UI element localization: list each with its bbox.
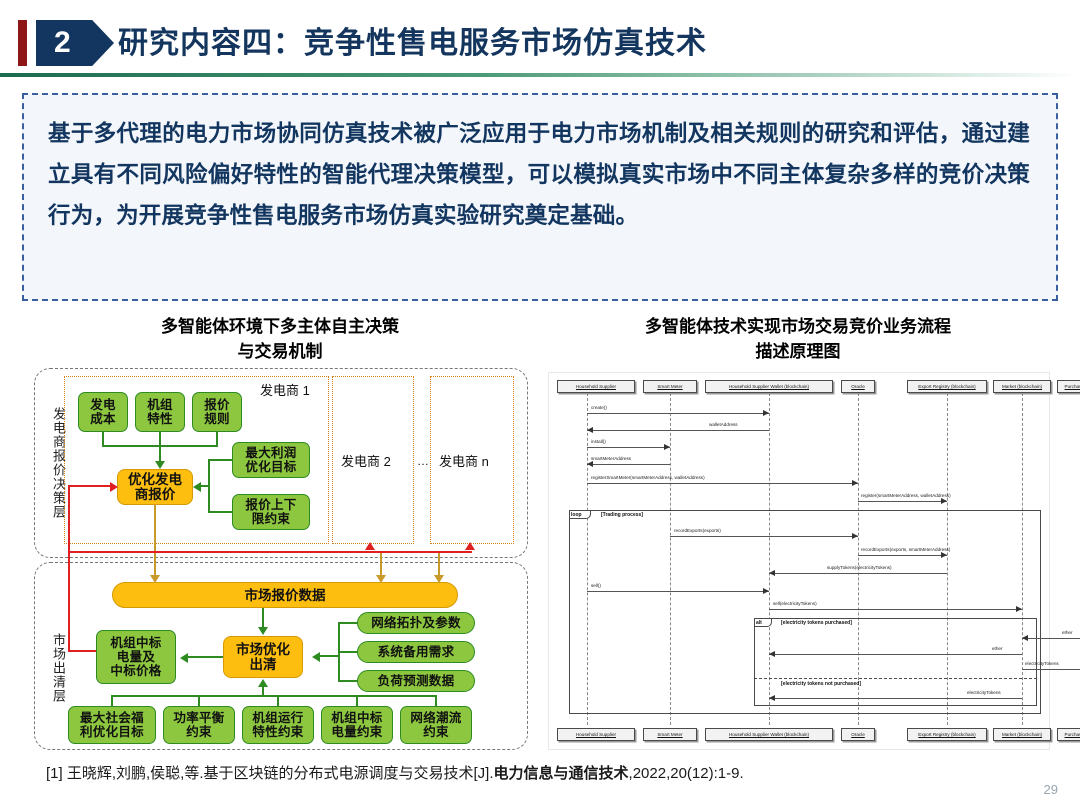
node-network-flow-constraint: 网络潮流 约束 — [400, 706, 472, 744]
header-divider — [0, 73, 1080, 77]
message-arrow-sell-tokens — [1016, 606, 1022, 612]
node-power-balance-constraint: 功率平衡 约束 — [163, 706, 235, 744]
message-label-ether-purchaser: ether — [1062, 630, 1072, 635]
node-unitop-l2: 特性约束 — [252, 725, 303, 739]
message-line-sell-tokens — [769, 609, 1022, 610]
message-arrow-ether-purchaser — [1022, 635, 1028, 641]
link-feedback-from-award — [68, 650, 96, 652]
node-unitop-l1: 机组运行 — [252, 711, 303, 725]
summary-callout-box: 基于多代理的电力市场协同仿真技术被广泛应用于电力市场机制及相关规则的研究和评估，… — [22, 93, 1058, 301]
node-generation-cost-l1: 发电 — [90, 398, 116, 412]
message-arrow-registersmartmeter — [852, 480, 858, 486]
link-c2-up — [198, 696, 200, 707]
link-rules-down — [216, 432, 218, 446]
message-line-recordexports — [670, 536, 858, 537]
link-clearing-to-award — [187, 656, 223, 658]
node-welfare-l2: 利优化目标 — [80, 725, 144, 739]
layer-label-market-clearing: 市场出清层 — [40, 598, 66, 738]
message-line-create — [587, 413, 769, 414]
message-line-ether-purchaser — [1022, 638, 1080, 639]
section-number-badge: 2 — [36, 20, 114, 66]
node-network-topology-params: 网络拓扑及参数 — [357, 612, 475, 634]
link-feedback-vertical — [68, 485, 70, 652]
node-unit-operation-constraint: 机组运行 特性约束 — [242, 706, 314, 744]
message-label-sell-tokens: sell(electricityTokens) — [773, 601, 817, 606]
node-load-forecast-data: 负荷预测数据 — [357, 670, 475, 692]
generator-n-title: 发电商 n — [439, 451, 489, 470]
slide-header: 2 研究内容四：竞争性售电服务市场仿真技术 — [0, 0, 1080, 80]
node-system-reserve-demand: 系统备用需求 — [357, 641, 475, 663]
lifeline-header-export-registry: Export Registry (blockchain) — [907, 380, 987, 393]
lifeline-header-purchaser: Purchaser (blockchain) — [1057, 380, 1080, 393]
node-social-welfare-objective: 最大社会福 利优化目标 — [68, 706, 156, 744]
message-arrow-smartmeteraddress — [587, 461, 593, 467]
page-title: 研究内容四：竞争性售电服务市场仿真技术 — [118, 18, 707, 62]
message-line-install — [587, 447, 670, 448]
frame-condition-alt-purchased: [electricity tokens purchased] — [781, 620, 852, 626]
link-constraint-bus-to-clearing — [262, 686, 264, 696]
link-profit-out — [208, 459, 233, 461]
generator-ellipsis: … — [417, 454, 429, 468]
link-c5-up — [435, 696, 437, 707]
link-c3-up — [277, 696, 279, 707]
message-line-tokens-to-purchaser — [1022, 669, 1080, 670]
link-reserve-out — [338, 651, 358, 653]
arrow-data-into-clearing — [312, 652, 320, 662]
message-line-supplytokens — [769, 573, 947, 574]
message-line-sell — [587, 591, 769, 592]
node-awarded-l1: 机组中标 — [110, 636, 161, 650]
generator-1-title: 发电商 1 — [260, 380, 310, 399]
message-arrow-install — [664, 444, 670, 450]
link-data-bus-to-clearing — [320, 655, 340, 657]
link-load-out — [338, 680, 358, 682]
node-max-profit-objective-l1: 最大利润 — [245, 446, 296, 460]
message-arrow-tokens-returned — [769, 695, 775, 701]
header-accent-bar — [18, 20, 27, 66]
link-constraint-bus — [111, 695, 437, 697]
link-right-data-bus — [338, 622, 340, 682]
link-red-collector-bus — [68, 551, 472, 553]
generator-2-title: 发电商 2 — [341, 451, 391, 470]
message-arrow-supplytokens — [769, 570, 775, 576]
lifeline-footer-oracle: Oracle — [841, 728, 875, 741]
node-unit-award-energy-constraint: 机组中标 电量约束 — [321, 706, 393, 744]
node-generation-cost-l2: 成本 — [90, 412, 116, 426]
message-label-tokens-to-purchaser: electricityTokens — [1025, 661, 1059, 666]
message-label-supplytokens: supplyTokens(electricityTokens) — [827, 565, 892, 570]
message-label-recordexports-oracle: recordExports(exports, smartMeterAddress… — [861, 547, 950, 552]
node-bid-limit-constraint: 报价上下 限约束 — [232, 494, 310, 530]
message-label-sell: sell() — [591, 583, 601, 588]
figure-right-sequence-diagram: Household Supplier Smart Meter Household… — [548, 372, 1050, 750]
arrow-into-optimize — [155, 461, 165, 469]
frame-tag-loop: loop — [569, 510, 591, 519]
message-arrow-recordexports — [852, 533, 858, 539]
lifeline-footer-household-supplier: Household Supplier — [557, 728, 635, 741]
arrow-feedback-optimize — [110, 482, 118, 492]
node-max-profit-objective: 最大利润 优化目标 — [232, 442, 310, 478]
frame-condition-alt-not-purchased: [electricity tokens not purchased] — [781, 681, 861, 687]
message-label-smartmeteraddress: smartMeterAddress — [591, 456, 631, 461]
figure-left-caption: 多智能体环境下多主体自主决策 与交易机制 — [40, 314, 520, 364]
node-flow-l2: 约束 — [423, 725, 449, 739]
page-number: 29 — [1044, 782, 1058, 797]
message-line-smartmeteraddress — [587, 464, 670, 465]
node-flow-l1: 网络潮流 — [410, 711, 461, 725]
message-arrow-create — [763, 410, 769, 416]
node-optimize-generator-bid-l1: 优化发电 — [128, 472, 182, 487]
node-bid-limit-constraint-l2: 限约束 — [252, 512, 290, 526]
message-line-tokens-returned — [769, 698, 1022, 699]
reference-citation: [1] 王晓辉,刘鹏,侯聪,等.基于区块链的分布式电源调度与交易技术[J].电力… — [46, 762, 744, 783]
reference-prefix: [1] 王晓辉,刘鹏,侯聪,等.基于区块链的分布式电源调度与交易技术[J]. — [46, 765, 494, 782]
lifeline-header-smart-meter: Smart Meter — [643, 380, 697, 393]
node-bid-limit-constraint-l1: 报价上下 — [245, 498, 296, 512]
message-line-registersmartmeter — [587, 483, 858, 484]
message-label-ether-market: ether — [992, 646, 1002, 651]
figure-right-caption-line2: 描述原理图 — [548, 339, 1048, 364]
lifeline-header-market: Market (blockchain) — [993, 380, 1051, 393]
lifeline-header-household-supplier: Household Supplier — [557, 380, 635, 393]
node-unit-characteristics: 机组 特性 — [135, 392, 185, 432]
message-label-install: install() — [591, 439, 606, 444]
node-awarded-l2: 电量及 — [117, 650, 155, 664]
reference-journal: 电力信息与通信技术 — [494, 765, 629, 782]
link-feedback-into-optimize — [68, 485, 112, 487]
summary-text: 基于多代理的电力市场协同仿真技术被广泛应用于电力市场机制及相关规则的研究和评估，… — [48, 113, 1030, 236]
node-balance-l1: 功率平衡 — [173, 711, 224, 725]
figure-right-caption: 多智能体技术实现市场交易竞价业务流程 描述原理图 — [548, 314, 1048, 364]
figure-right-caption-line1: 多智能体技术实现市场交易竞价业务流程 — [548, 314, 1048, 339]
node-bidding-rules-l2: 规则 — [204, 412, 230, 426]
lifeline-footer-smart-meter: Smart Meter — [643, 728, 697, 741]
frame-tag-alt: alt — [754, 618, 772, 627]
message-label-walletaddress: walletAddress — [709, 422, 738, 427]
message-line-ether-market — [769, 654, 1022, 655]
message-label-registersmartmeter: registerSmartMeter(smartMeterAddress, wa… — [591, 475, 705, 480]
figure-left-multiagent-diagram: 发电商报价决策层 市场出清层 发电商 1 发电商 2 … 发电商 n 发电 成本… — [32, 366, 530, 752]
node-optimize-generator-bid: 优化发电 商报价 — [117, 469, 193, 505]
link-c4-up — [356, 696, 358, 707]
message-arrow-ether-market — [769, 651, 775, 657]
arrow-clearing-to-award — [180, 653, 188, 663]
lifeline-footer-market: Market (blockchain) — [993, 728, 1051, 741]
link-limit-out — [208, 511, 233, 513]
node-unit-characteristics-l1: 机组 — [147, 398, 173, 412]
link-right-bus-to-optimize — [200, 485, 210, 487]
message-line-recordexports-oracle — [858, 555, 947, 556]
message-arrow-sell — [763, 588, 769, 594]
lifeline-footer-purchaser: Purchaser (blockchain) — [1057, 728, 1080, 741]
message-arrow-register — [941, 498, 947, 504]
link-topology-out — [338, 622, 358, 624]
message-label-create: create() — [591, 405, 607, 410]
node-market-clearing-l1: 市场优化 — [236, 642, 290, 657]
node-optimize-generator-bid-l2: 商报价 — [135, 487, 176, 502]
node-unitaward-l1: 机组中标 — [331, 711, 382, 725]
node-unitaward-l2: 电量约束 — [331, 725, 382, 739]
node-awarded-l3: 中标价格 — [110, 664, 161, 678]
arrow-into-optimize-right — [193, 482, 201, 492]
node-unit-characteristics-l2: 特性 — [147, 412, 173, 426]
arrow-to-generator-n — [465, 542, 475, 550]
node-market-bid-data: 市场报价数据 — [112, 582, 458, 608]
arrow-constraints-into-clearing — [258, 679, 268, 687]
link-gen2-to-market-data — [380, 553, 382, 577]
message-label-tokens-returned: electricityTokens — [967, 690, 1001, 695]
message-arrow-walletaddress — [587, 427, 593, 433]
lifeline-header-household-supplier-wallet: Household Supplier Wallet (blockchain) — [705, 380, 833, 393]
node-welfare-l1: 最大社会福 — [80, 711, 144, 725]
node-market-clearing-l2: 出清 — [250, 657, 277, 672]
figure-left-caption-line2: 与交易机制 — [40, 339, 520, 364]
frame-condition-loop: [Trading process] — [601, 512, 643, 518]
node-generation-cost: 发电 成本 — [78, 392, 128, 432]
message-label-recordexports: recordExports(exports) — [674, 528, 721, 533]
node-awarded-energy-price: 机组中标 电量及 中标价格 — [96, 630, 176, 684]
node-bidding-rules-l1: 报价 — [204, 398, 230, 412]
link-c1-up — [111, 696, 113, 707]
message-arrow-recordexports-oracle — [941, 552, 947, 558]
link-cost-down — [102, 432, 104, 446]
figure-left-caption-line1: 多智能体环境下多主体自主决策 — [40, 314, 520, 339]
link-bid-to-market-data — [154, 505, 156, 577]
lifeline-footer-export-registry: Export Registry (blockchain) — [907, 728, 987, 741]
node-bidding-rules: 报价 规则 — [192, 392, 242, 432]
frame-divider-alt — [754, 678, 1037, 679]
arrow-to-generator-2 — [365, 542, 375, 550]
link-unit-down — [159, 432, 161, 446]
link-genn-to-market-data — [438, 553, 440, 577]
node-market-clearing: 市场优化 出清 — [223, 636, 303, 678]
lifeline-footer-household-supplier-wallet: Household Supplier Wallet (blockchain) — [705, 728, 833, 741]
message-line-walletaddress — [587, 430, 769, 431]
arrow-to-clearing — [258, 627, 268, 635]
node-max-profit-objective-l2: 优化目标 — [245, 460, 296, 474]
message-line-register — [858, 501, 947, 502]
layer-label-generator-bidding: 发电商报价决策层 — [40, 380, 66, 546]
reference-suffix: ,2022,20(12):1-9. — [629, 765, 744, 782]
message-label-register: register(smartMeterAddress, walletAddres… — [861, 493, 951, 498]
node-balance-l2: 约束 — [186, 725, 212, 739]
